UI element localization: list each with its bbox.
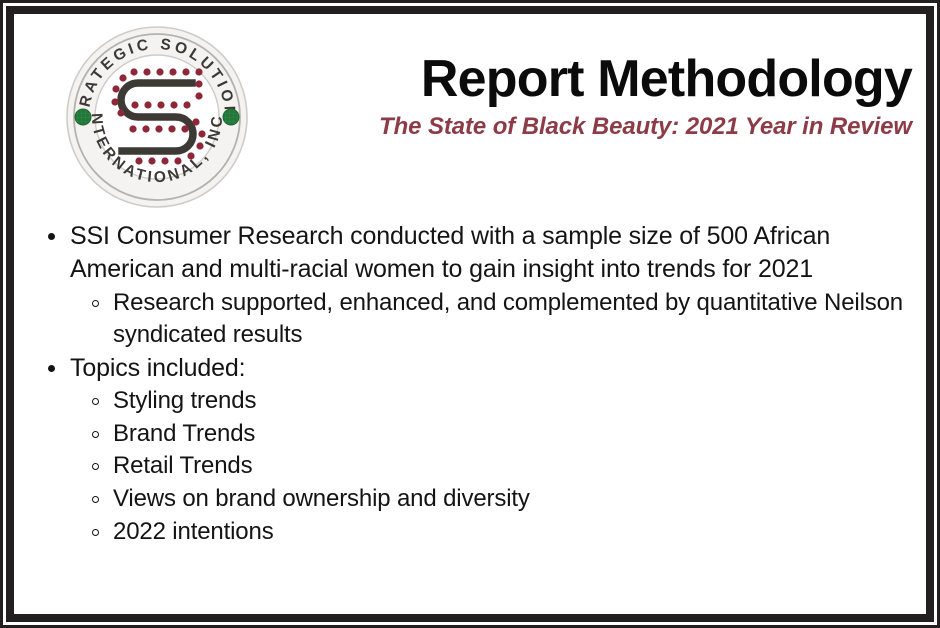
title-block: Report Methodology The State of Black Be… [272,52,912,141]
list-item-label: Research supported, enhanced, and comple… [113,287,926,352]
list-item-label: SSI Consumer Research conducted with a s… [70,220,926,287]
company-logo: STRATEGIC SOLUTIONS INTERNATIONAL, INC. [62,22,252,212]
bullet-list: SSI Consumer Research conducted with a s… [14,220,926,548]
list-item: Retail Trends [70,450,926,483]
page-subtitle: The State of Black Beauty: 2021 Year in … [272,113,912,141]
globe-icon-left [75,109,91,125]
list-item: Brand Trends [70,418,926,451]
slide: STRATEGIC SOLUTIONS INTERNATIONAL, INC. [0,0,940,628]
list-item-label: 2022 intentions [113,516,926,549]
list-item: Styling trends [70,385,926,418]
page-title: Report Methodology [272,52,912,107]
list-item: Views on brand ownership and diversity [70,483,926,516]
bullet-circle-icon [92,300,99,307]
sub-bullet-list: Research supported, enhanced, and comple… [70,287,926,352]
globe-icon-right [223,109,239,125]
list-item: Topics included: Styling trends Brand Tr… [14,352,926,548]
slide-canvas: STRATEGIC SOLUTIONS INTERNATIONAL, INC. [14,14,926,614]
bullet-disc-icon [48,233,55,240]
list-item-label: Styling trends [113,385,926,418]
seal-logo-icon: STRATEGIC SOLUTIONS INTERNATIONAL, INC. [62,22,252,212]
list-item: Research supported, enhanced, and comple… [70,287,926,352]
list-item-label: Topics included: [70,352,926,385]
list-item: 2022 intentions [70,516,926,549]
bullet-circle-icon [92,398,99,405]
list-item: SSI Consumer Research conducted with a s… [14,220,926,352]
list-item-label: Views on brand ownership and diversity [113,483,926,516]
sub-bullet-list: Styling trends Brand Trends Retail Trend… [70,385,926,548]
slide-header: STRATEGIC SOLUTIONS INTERNATIONAL, INC. [14,14,926,214]
slide-body: SSI Consumer Research conducted with a s… [14,220,926,548]
bullet-circle-icon [92,463,99,470]
bullet-circle-icon [92,496,99,503]
list-item-label: Brand Trends [113,418,926,451]
bullet-circle-icon [92,431,99,438]
bullet-disc-icon [48,365,55,372]
list-item-label: Retail Trends [113,450,926,483]
bullet-circle-icon [92,529,99,536]
